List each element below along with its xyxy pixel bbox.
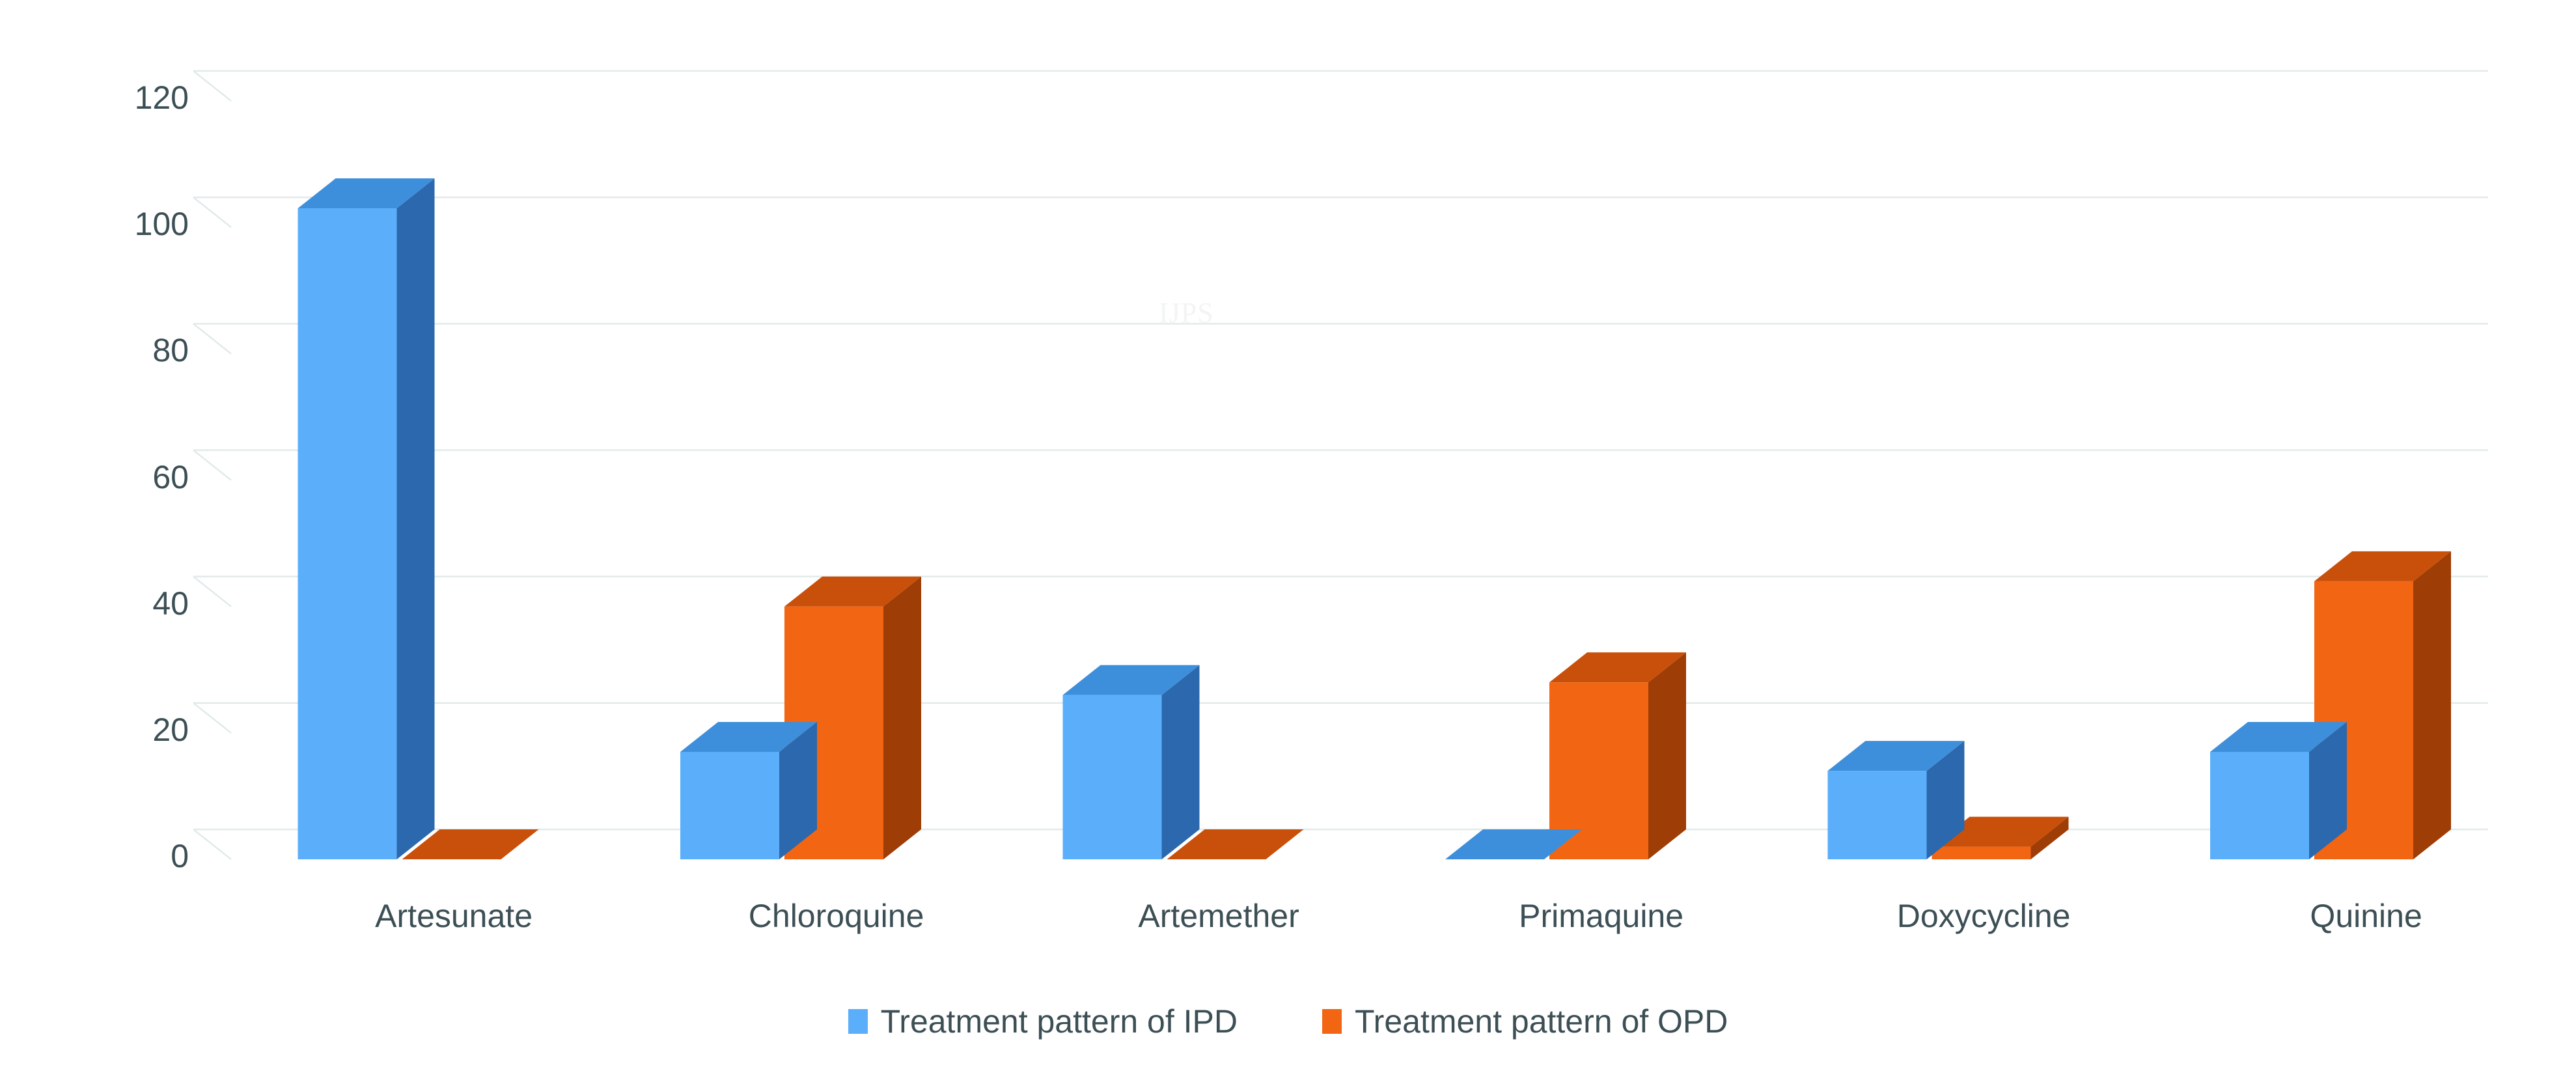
gridline-depth bbox=[193, 71, 231, 101]
y-axis-tick-label: 80 bbox=[0, 331, 189, 369]
bar-artesunate-ipd bbox=[298, 178, 435, 859]
y-axis-tick-label: 20 bbox=[0, 711, 189, 749]
y-axis-tick-label: 40 bbox=[0, 585, 189, 622]
bar-face-front bbox=[298, 208, 397, 859]
x-axis-tick-label: Chloroquine bbox=[749, 897, 924, 935]
bar-primaquine-opd bbox=[1549, 652, 1686, 859]
legend-swatch-icon bbox=[1322, 1009, 1342, 1034]
chart-container: 020406080100120 ArtesunateChloroquineArt… bbox=[0, 0, 2576, 1067]
gridlines bbox=[193, 71, 2488, 859]
bar-face-side bbox=[883, 577, 921, 859]
bar-face-side bbox=[397, 178, 435, 859]
bar-quinine-ipd bbox=[2210, 722, 2347, 859]
legend-item-ipd[interactable]: Treatment pattern of IPD bbox=[848, 1003, 1238, 1040]
watermark-text: IJPS bbox=[1159, 296, 1214, 329]
x-axis-tick-label: Doxycycline bbox=[1897, 897, 2071, 935]
gridline-depth bbox=[193, 324, 231, 353]
plot-area: 020406080100120 ArtesunateChloroquineArt… bbox=[0, 0, 2576, 1067]
bars bbox=[298, 178, 2452, 859]
gridline-depth bbox=[193, 703, 231, 733]
bar-face-side bbox=[2413, 551, 2451, 859]
y-axis-tick-label: 0 bbox=[0, 837, 189, 875]
legend-label: Treatment pattern of OPD bbox=[1355, 1003, 1728, 1040]
x-axis-tick-label: Artemether bbox=[1138, 897, 1299, 935]
legend-label: Treatment pattern of IPD bbox=[881, 1003, 1238, 1040]
bar-face-front bbox=[1828, 771, 1927, 859]
gridline-depth bbox=[193, 829, 231, 859]
bar-chloroquine-ipd bbox=[680, 722, 817, 859]
bar-face-front bbox=[680, 752, 779, 859]
x-axis-tick-label: Artesunate bbox=[375, 897, 533, 935]
bar-face-front bbox=[1932, 847, 2031, 859]
gridline-depth bbox=[193, 450, 231, 480]
y-axis-tick-label: 120 bbox=[0, 79, 189, 117]
bar-face-side bbox=[1162, 665, 1200, 859]
y-axis-tick-label: 100 bbox=[0, 205, 189, 243]
bar-artemether-ipd bbox=[1063, 665, 1200, 859]
legend-swatch-icon bbox=[848, 1009, 868, 1034]
x-axis-tick-label: Primaquine bbox=[1519, 897, 1683, 935]
bar-face-front bbox=[2210, 752, 2309, 859]
gridline-depth bbox=[193, 577, 231, 607]
x-axis-tick-label: Quinine bbox=[2310, 897, 2422, 935]
bar-face-side bbox=[1648, 652, 1686, 859]
gridline-depth bbox=[193, 197, 231, 227]
y-axis-tick-label: 60 bbox=[0, 458, 189, 496]
bar-doxycycline-ipd bbox=[1828, 741, 1965, 859]
bar-face-front bbox=[1063, 695, 1162, 859]
chart-legend: Treatment pattern of IPDTreatment patter… bbox=[0, 1003, 2576, 1040]
legend-item-opd[interactable]: Treatment pattern of OPD bbox=[1322, 1003, 1728, 1040]
